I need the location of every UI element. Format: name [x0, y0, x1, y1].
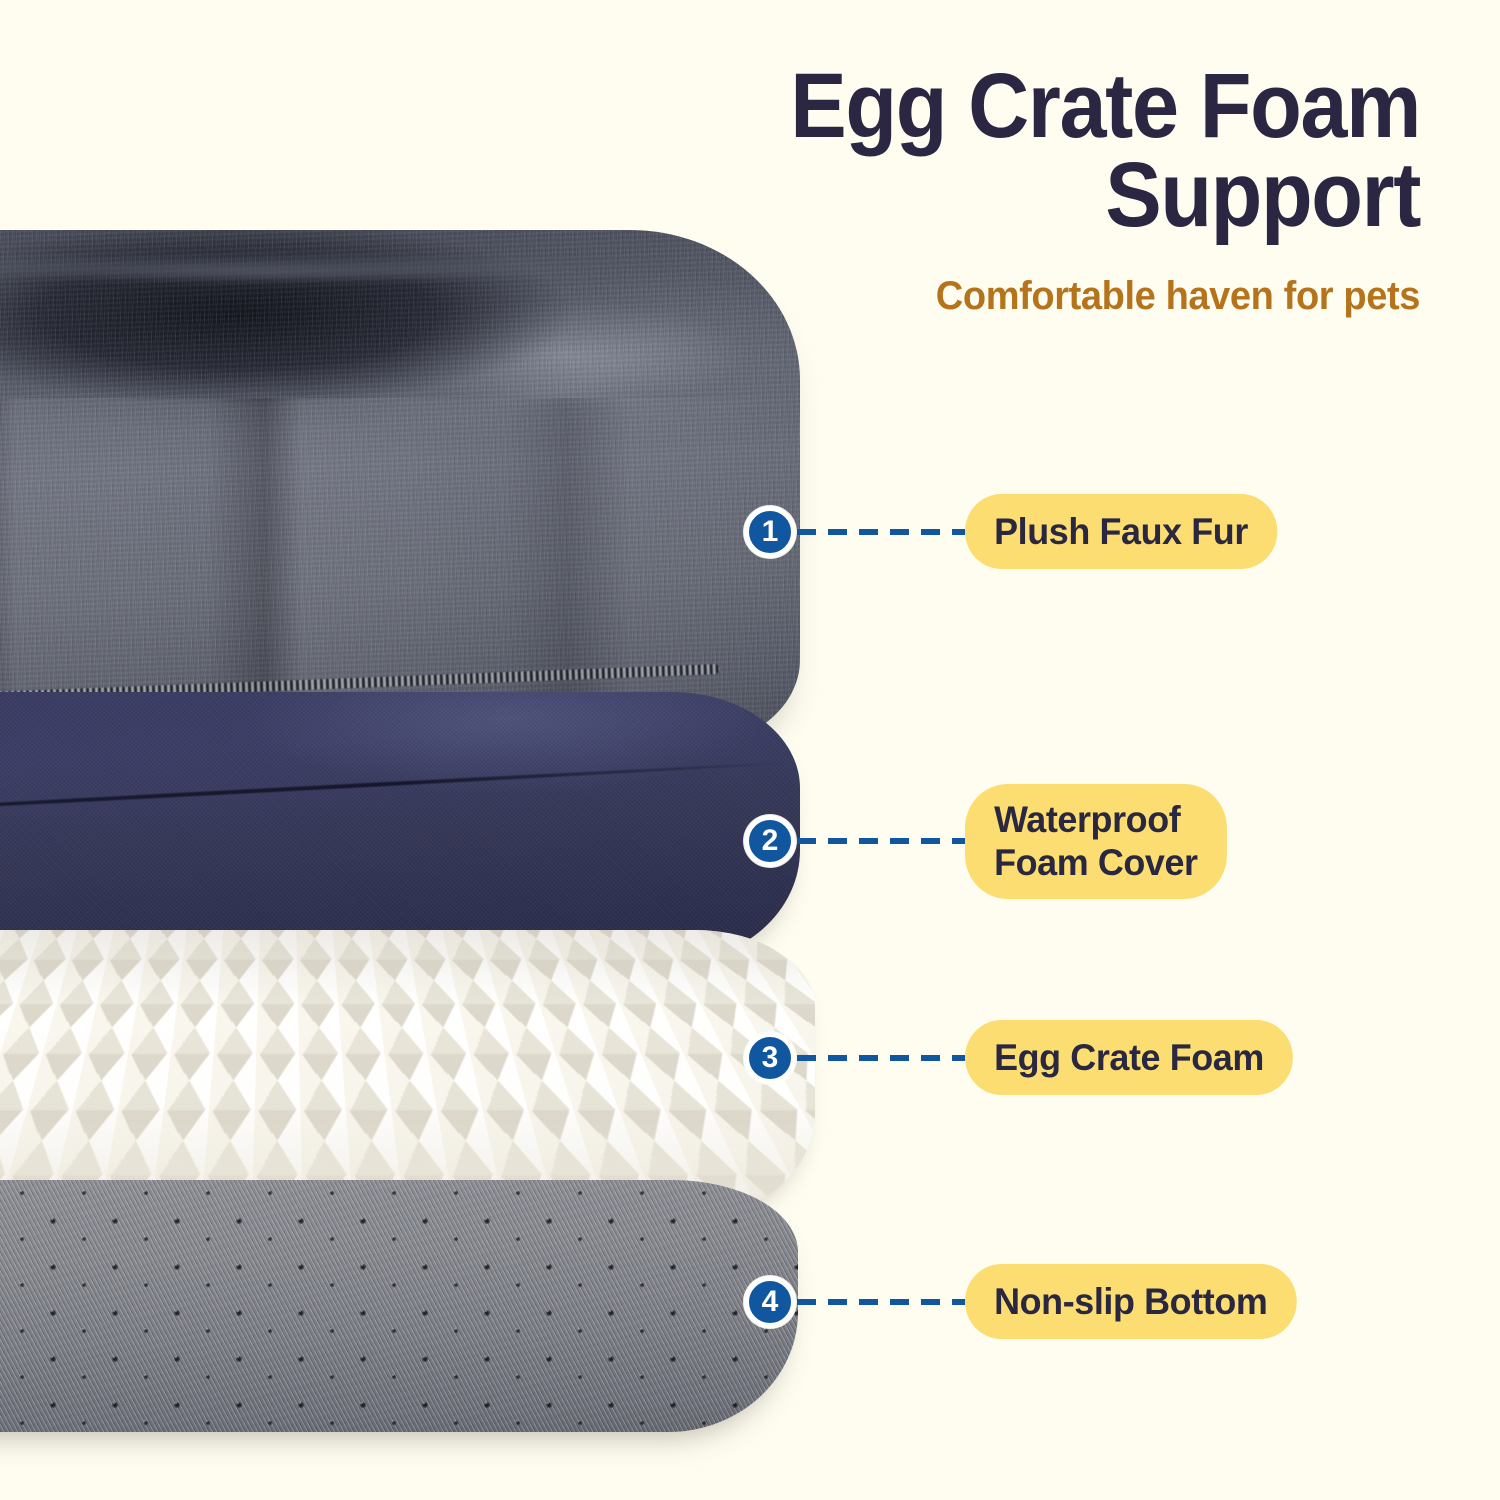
egg-crate-pattern-overlay — [0, 930, 815, 1216]
callout-egg-crate-foam: 3 Egg Crate Foam — [744, 1020, 1303, 1095]
navy-fabric-weave-overlay — [0, 692, 800, 962]
page-subtitle: Comfortable haven for pets — [603, 274, 1420, 319]
product-layer-non-slip-bottom — [0, 1180, 798, 1432]
page-title-line-1: Egg Crate Foam — [629, 62, 1420, 151]
badge-number-4-icon: 4 — [744, 1276, 796, 1328]
connector-dashed-line-1 — [797, 529, 965, 535]
silicone-grip-dots — [0, 1180, 798, 1432]
product-layer-waterproof-foam-cover — [0, 692, 800, 962]
callout-label-1: Plush Faux Fur — [965, 494, 1277, 569]
callout-plush-faux-fur: 1 Plush Faux Fur — [744, 494, 1287, 569]
headline-block: Egg Crate Foam Support Comfortable haven… — [560, 62, 1420, 319]
callout-label-3: Egg Crate Foam — [965, 1020, 1293, 1095]
page-title-line-2: Support — [629, 151, 1420, 240]
badge-number-2-icon: 2 — [744, 815, 796, 867]
infographic-canvas: Egg Crate Foam Support Comfortable haven… — [0, 0, 1500, 1500]
callout-waterproof-foam-cover: 2 Waterproof Foam Cover — [744, 784, 1235, 899]
foam-shading-overlay — [0, 930, 815, 1216]
connector-dashed-line-2 — [797, 838, 965, 844]
navy-cover-seam-line — [0, 760, 799, 819]
badge-number-3-icon: 3 — [744, 1032, 796, 1084]
callout-label-2: Waterproof Foam Cover — [965, 784, 1227, 899]
product-layer-egg-crate-foam — [0, 930, 815, 1216]
badge-number-1-icon: 1 — [744, 506, 796, 558]
callout-non-slip-bottom: 4 Non-slip Bottom — [744, 1264, 1307, 1339]
silicone-grip-dot-highlights — [0, 1180, 798, 1432]
connector-dashed-line-4 — [797, 1299, 965, 1305]
product-layer-stack-image — [0, 230, 825, 1450]
callout-label-4: Non-slip Bottom — [965, 1264, 1296, 1339]
connector-dashed-line-3 — [797, 1055, 965, 1061]
twill-weave-overlay — [0, 1180, 798, 1432]
